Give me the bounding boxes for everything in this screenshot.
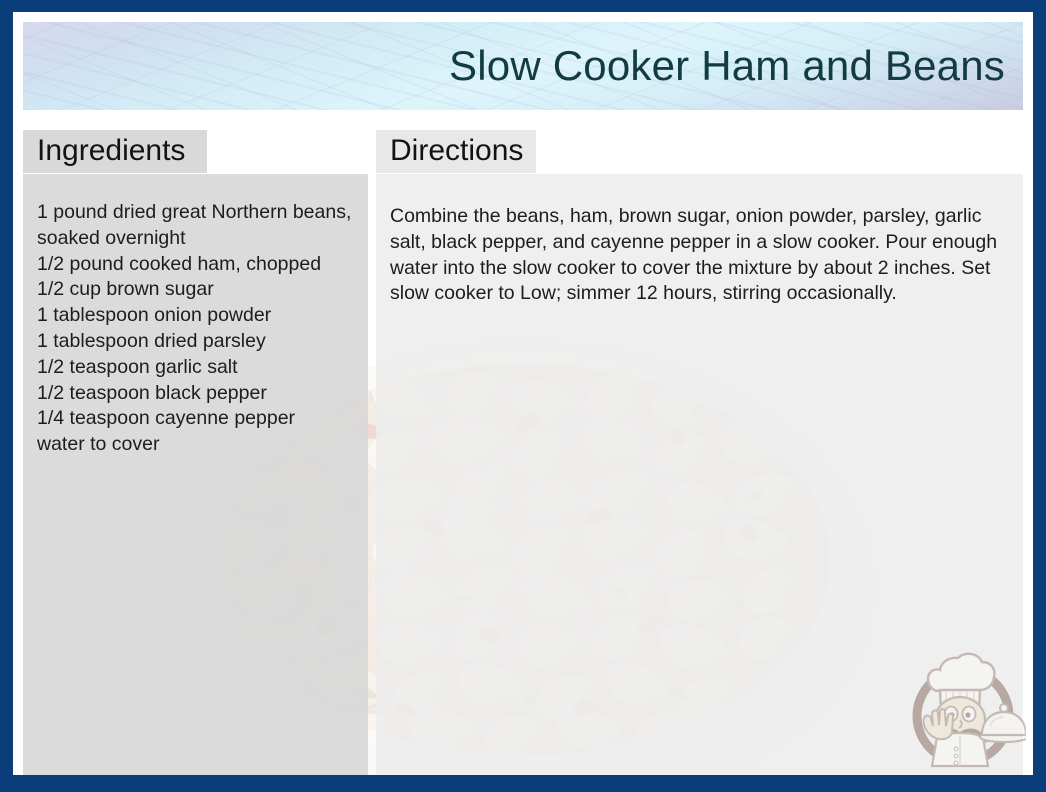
recipe-page: Slow Cooker Ham and Beans Ingredients 1 …	[13, 12, 1033, 775]
ingredient-item: 1/4 teaspoon cayenne pepper	[37, 406, 352, 432]
ingredients-heading: Ingredients	[23, 130, 207, 173]
ingredient-item: 1 pound dried great Northern beans, soak…	[37, 200, 352, 252]
ingredient-item: 1 tablespoon onion powder	[37, 303, 352, 329]
ingredient-item: 1/2 teaspoon garlic salt	[37, 355, 352, 381]
chef-with-cloche-logo	[906, 644, 1026, 769]
directions-column: Directions Combine the beans, ham, brown…	[376, 130, 1023, 173]
ingredient-item: 1 tablespoon dried parsley	[37, 329, 352, 355]
ingredients-panel: 1 pound dried great Northern beans, soak…	[23, 174, 368, 775]
title-banner: Slow Cooker Ham and Beans	[23, 22, 1023, 110]
directions-heading: Directions	[376, 130, 536, 173]
page-title: Slow Cooker Ham and Beans	[449, 42, 1005, 90]
ingredient-item: 1/2 teaspoon black pepper	[37, 381, 352, 407]
ingredients-column: Ingredients 1 pound dried great Northern…	[23, 130, 368, 173]
ingredient-item: 1/2 pound cooked ham, chopped	[37, 252, 352, 278]
ingredient-item: 1/2 cup brown sugar	[37, 277, 352, 303]
recipe-card: Slow Cooker Ham and Beans Ingredients 1 …	[0, 0, 1046, 792]
ingredient-item: water to cover	[37, 432, 352, 458]
directions-body-text: Combine the beans, ham, brown sugar, oni…	[390, 204, 1001, 307]
